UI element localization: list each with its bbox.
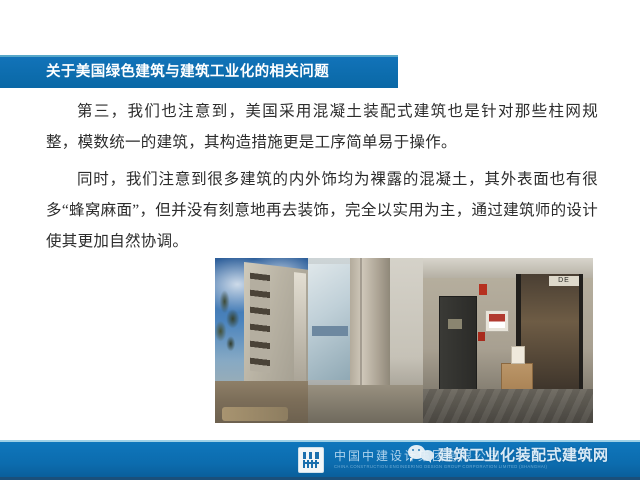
footer-branding: 中国中建设计集团有限公司 CHINA CONSTRUCTION ENGINEER… xyxy=(298,442,547,477)
photo-interior-exposed-concrete-column xyxy=(308,258,423,423)
photo-pull-station-icon xyxy=(478,332,485,341)
photo-strip: DE xyxy=(215,258,593,423)
slide-title-banner: 关于美国绿色建筑与建筑工业化的相关问题 xyxy=(0,55,398,88)
photo-wall-notice xyxy=(485,310,509,332)
photo-door xyxy=(439,296,477,390)
footer-company-text: 中国中建设计集团有限公司 CHINA CONSTRUCTION ENGINEER… xyxy=(334,449,547,470)
photo-tree xyxy=(215,286,245,364)
photo-fire-alarm-icon xyxy=(479,284,487,295)
cscec-logo-icon xyxy=(298,447,324,473)
photo-ground xyxy=(215,381,308,423)
photo-interior-floor xyxy=(308,385,423,423)
paragraph-2: 同时，我们注意到很多建筑的内外饰均为裸露的混凝土，其外表面也有很多“蜂窝麻面”，… xyxy=(46,164,598,257)
photo-door-sign: DE xyxy=(549,276,579,286)
body-text-block: 第三，我们也注意到，美国采用混凝土装配式建筑也是针对那些柱网规整，模数统一的建筑… xyxy=(46,96,598,263)
page-title: 关于美国绿色建筑与建筑工业化的相关问题 xyxy=(46,65,329,80)
photo-building-facade xyxy=(244,262,308,390)
slide-footer-bar: 中国中建设计集团有限公司 CHINA CONSTRUCTION ENGINEER… xyxy=(0,440,640,480)
photo-corridor-door-and-packages: DE xyxy=(423,258,593,423)
slide: 关于美国绿色建筑与建筑工业化的相关问题 第三，我们也注意到，美国采用混凝土装配式… xyxy=(0,0,640,480)
photo-glazing xyxy=(308,264,354,380)
photo-exterior-precast-concrete-building xyxy=(215,258,308,423)
footer-company-name-en: CHINA CONSTRUCTION ENGINEERING DESIGN GR… xyxy=(334,463,547,471)
footer-company-name-cn: 中国中建设计集团有限公司 xyxy=(334,449,547,463)
photo-carpet xyxy=(423,389,593,423)
paragraph-1: 第三，我们也注意到，美国采用混凝土装配式建筑也是针对那些柱网规整，模数统一的建筑… xyxy=(46,96,598,158)
